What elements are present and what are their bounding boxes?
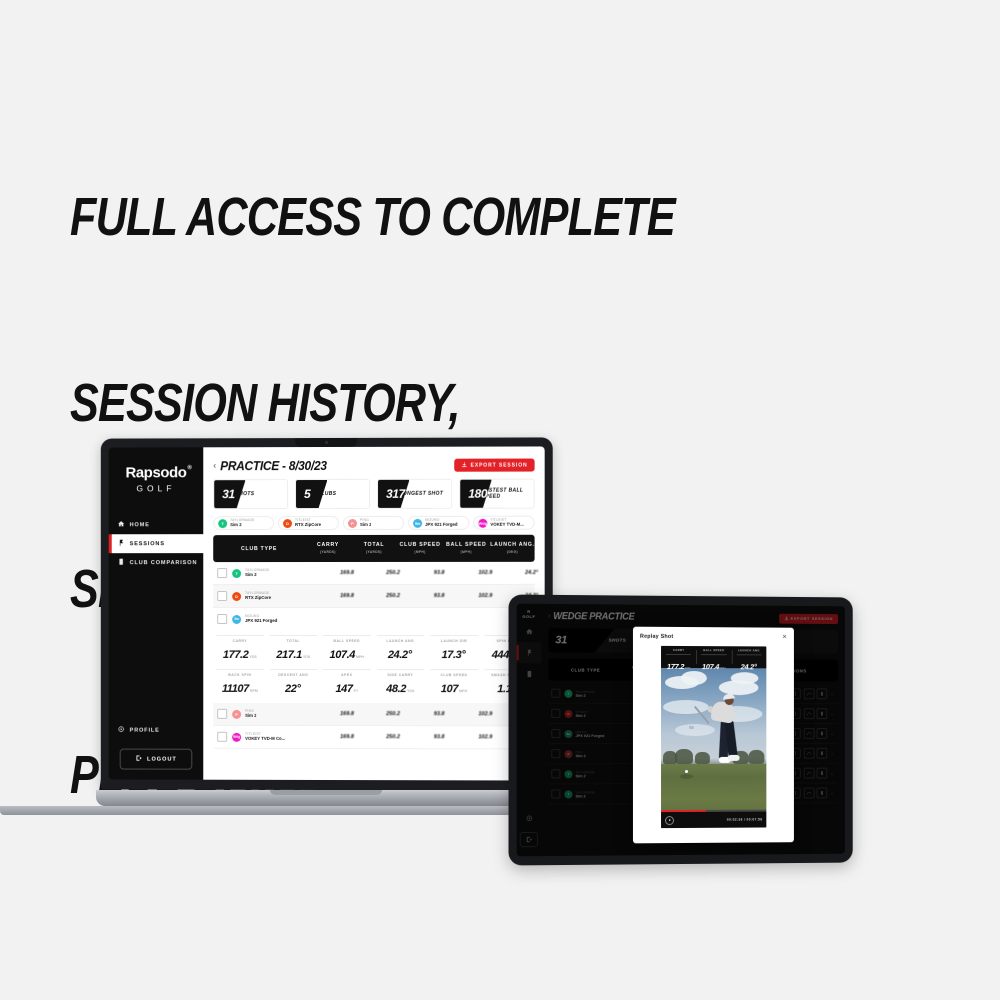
gear-icon	[118, 726, 125, 735]
cell-carry: 169.8	[324, 711, 370, 717]
tablet-screen: R GOLF ‹ WEDGE PRACTICE	[517, 604, 845, 857]
video-icon[interactable]	[817, 728, 828, 739]
tablet-row-checkbox[interactable]	[551, 689, 560, 698]
modal-header: Replay Shot ✕	[640, 634, 787, 641]
club-model: Sim 2	[230, 523, 254, 528]
close-icon[interactable]: ✕	[782, 635, 787, 641]
headline-line-1: FULL ACCESS TO COMPLETE	[70, 186, 646, 248]
video-stat-bar: CARRY177.2YDS BALL SPEED107.4MPH LAUNCH …	[661, 646, 766, 668]
expand-row-chevron-icon[interactable]: ⌄	[830, 711, 834, 717]
sidebar-item-home[interactable]: HOME	[109, 515, 203, 534]
video-icon[interactable]	[817, 787, 828, 798]
table-row[interactable]: P PINGSim 2 169.8 250.2 93.8 102.9 24.2°	[213, 703, 534, 726]
club-color-dot: T	[564, 689, 572, 697]
detail-club-speed: CLUB SPEED107MPH	[430, 669, 478, 697]
sidebar-item-label: PROFILE	[130, 727, 160, 733]
sidebar-item-sessions[interactable]: SESSIONS	[109, 534, 212, 553]
club-model: JPX 921 Forged	[425, 523, 457, 528]
session-header: ‹ PRACTICE - 8/30/23 EXPORT SESSION	[203, 446, 544, 479]
detail-launch-ang: LAUNCH ANG24.2°	[377, 635, 425, 663]
stat-value: 180	[468, 487, 487, 501]
club-icon	[118, 558, 125, 567]
club-model: RTX ZipCore	[245, 596, 271, 601]
club-model: VOKEY TVD-M...	[490, 523, 524, 528]
video-stat-ball-speed: BALL SPEED107.4MPH	[696, 646, 731, 668]
stat-card-longest-shot: 317YDS LONGEST SHOT	[377, 479, 452, 509]
tablet-row-checkbox[interactable]	[551, 749, 560, 758]
sidebar-nav: HOME SESSIONS CLUB COMPARISON	[109, 515, 203, 572]
club-color-dot: T	[564, 770, 572, 778]
logo-wordmark: Rapsodo	[125, 464, 186, 481]
trajectory-icon[interactable]	[804, 728, 815, 739]
detail-carry: CARRY177.2YDS	[216, 635, 263, 663]
detail-total: TOTAL217.1YDS	[270, 635, 317, 663]
column-header-total: TOTAL(YARDS)	[351, 542, 397, 555]
replay-shot-modal: Replay Shot ✕ CARRY177.2YDS BALL SPEED10…	[633, 627, 794, 844]
trajectory-icon[interactable]	[804, 788, 815, 799]
club-model: VOKEY TVD-M Co...	[245, 737, 285, 742]
video-timestamp: 00:02:36 / 00:07:56	[727, 818, 762, 822]
table-row[interactable]: 5w MIZUNOJPX 921 Forged	[213, 608, 534, 630]
club-cell: 5w MIZUNOJPX 921 Forged	[232, 614, 324, 623]
table-row[interactable]: D TAYLORMADERTX ZipCore 169.8 250.2 93.8…	[213, 585, 534, 608]
tablet-session-header: ‹ WEDGE PRACTICE EXPORT SESSION	[548, 611, 838, 624]
club-color-dot: T	[564, 790, 572, 798]
home-icon	[118, 520, 125, 529]
tablet-club-cell: DTITLEISTSim 2	[564, 709, 639, 717]
stat-value: 317	[386, 487, 405, 501]
export-session-label: EXPORT SESSION	[470, 462, 527, 468]
video-icon[interactable]	[817, 708, 828, 719]
column-header-club-type: CLUB TYPE	[213, 546, 305, 552]
video-icon[interactable]	[817, 768, 828, 779]
export-session-button[interactable]: EXPORT SESSION	[454, 459, 534, 472]
sidebar-item-label: SESSIONS	[130, 541, 165, 547]
shot-detail-panel: CARRY177.2YDS TOTAL217.1YDS BALL SPEED10…	[213, 630, 534, 703]
modal-title: Replay Shot	[640, 634, 782, 641]
cell-club-speed: 93.8	[416, 570, 462, 576]
trajectory-icon[interactable]	[804, 768, 815, 779]
tablet-club-cell: TTAYLORMADESim 2	[564, 770, 639, 778]
shot-detail-row-2: BACK SPIN11107RPM DESCENT ANG22° APEX147…	[213, 669, 534, 697]
club-color-dot: P	[348, 518, 357, 527]
tablet-club-cell: 5wMIZUNOJPX 921 Forged	[564, 729, 639, 737]
row-checkbox[interactable]	[217, 709, 227, 719]
club-color-dot: T	[218, 519, 227, 528]
tablet-sidebar-item-home[interactable]	[517, 621, 541, 642]
trajectory-icon[interactable]	[804, 708, 815, 719]
column-header-ball-speed: BALL SPEED(MPH)	[443, 542, 489, 555]
club-color-dot: P	[564, 750, 572, 758]
cell-carry: 169.8	[324, 593, 370, 599]
play-icon[interactable]	[665, 816, 674, 825]
cell-carry: 169.8	[324, 734, 370, 740]
promo-stage: FULL ACCESS TO COMPLETE SESSION HISTORY,…	[0, 0, 1000, 1000]
tablet-sidebar: R GOLF	[517, 604, 541, 857]
cell-ball-speed: 102.9	[462, 570, 508, 576]
tablet-sidebar-item-profile[interactable]	[517, 808, 541, 829]
download-icon	[784, 615, 789, 621]
video-controls: 00:02:36 / 00:07:56	[661, 812, 766, 829]
cell-total: 250.2	[370, 711, 416, 717]
cell-ball-speed: 102.9	[462, 711, 508, 717]
club-cell: P PINGSim 2	[232, 709, 324, 718]
club-color-dot: 5w	[564, 729, 572, 737]
detail-ball-speed: BALL SPEED107.4MPH	[323, 635, 371, 663]
club-color-dot: T	[232, 569, 241, 578]
detail-descent-ang: DESCENT ANG22°	[270, 669, 317, 697]
logout-button[interactable]: LOGOUT	[120, 749, 193, 770]
cell-ball-speed: 102.9	[462, 734, 508, 740]
column-header-launch-ang: LAUNCH ANG.(DEG)	[489, 542, 535, 555]
table-header: CLUB TYPE CARRY(YARDS) TOTAL(YARDS) CLUB…	[213, 535, 534, 562]
stat-label: LONGEST SHOT	[399, 491, 443, 497]
stat-value: 31	[222, 487, 235, 501]
session-title: PRACTICE - 8/30/23	[220, 458, 327, 473]
tablet-body: R GOLF ‹ WEDGE PRACTICE	[509, 595, 853, 866]
headline-line-2: SESSION HISTORY,	[70, 372, 646, 434]
logo-trademark-icon: ®	[187, 465, 191, 471]
club-filter-chips: T TAYLORMADESim 2 D TITLEISTRTX ZipCore …	[203, 509, 544, 535]
cell-club-speed: 93.8	[416, 711, 462, 717]
sidebar-item-club-comparison[interactable]: CLUB COMPARISON	[109, 553, 203, 572]
logo-subtitle: GOLF	[109, 483, 203, 493]
laptop-lid: Rapsodo® GOLF HOME SESSIONS	[101, 437, 553, 790]
cell-ball-speed: 102.9	[462, 593, 508, 599]
club-chip[interactable]: T TAYLORMADESim 2	[213, 516, 274, 530]
video-divot	[680, 774, 693, 779]
club-chip[interactable]: Wdg TITLEISTVOKEY TVD-M...	[473, 516, 534, 530]
detail-side-carry: SIDE CARRY48.2YDS	[377, 669, 425, 697]
club-color-dot: Wdg	[232, 732, 241, 741]
club-chip[interactable]: P PINGSim 2	[343, 516, 404, 530]
stat-card-clubs: 5 CLUBS	[295, 479, 370, 509]
tablet-logout-button[interactable]	[520, 832, 538, 847]
detail-launch-dir: LAUNCH DIR17.3°	[430, 635, 478, 663]
table-row[interactable]: T TAYLORMADESim 2 169.8 250.2 93.8 102.9…	[213, 562, 534, 585]
shot-detail-row-1: CARRY177.2YDS TOTAL217.1YDS BALL SPEED10…	[213, 635, 534, 663]
video-stat-carry: CARRY177.2YDS	[661, 646, 696, 668]
stat-value: 5	[304, 487, 310, 501]
logout-icon	[135, 755, 142, 764]
expand-row-chevron-icon[interactable]: ⌄	[830, 750, 834, 756]
tablet-export-session-button[interactable]: EXPORT SESSION	[779, 613, 838, 623]
tablet-export-label: EXPORT SESSION	[791, 616, 834, 620]
detail-back-spin: BACK SPIN11107RPM	[216, 669, 263, 697]
tablet-club-cell: PPINGSim 2	[564, 750, 639, 758]
trajectory-icon[interactable]	[804, 748, 815, 759]
club-color-dot: 5w	[232, 614, 241, 623]
sidebar-footer: PROFILE LOGOUT	[109, 721, 203, 770]
club-color-dot: 5w	[413, 518, 422, 527]
expand-row-chevron-icon[interactable]: ⌄	[830, 790, 834, 796]
cell-carry: 169.8	[324, 570, 370, 576]
session-stat-cards: 31 SHOTS 5 CLUBS 317YDS LONGEST SHOT 1	[203, 479, 544, 510]
club-chip[interactable]: D TITLEISTRTX ZipCore	[278, 516, 339, 530]
sidebar-item-profile[interactable]: PROFILE	[109, 721, 203, 740]
row-checkbox[interactable]	[217, 568, 227, 578]
column-header-club-speed: CLUB SPEED(MPH)	[397, 542, 443, 555]
row-checkbox[interactable]	[217, 732, 227, 742]
stat-label: FASTEST BALL SPEED	[482, 488, 534, 500]
sidebar: Rapsodo® GOLF HOME SESSIONS	[109, 447, 203, 779]
club-color-dot: D	[232, 592, 241, 601]
tablet-row-checkbox[interactable]	[551, 789, 560, 798]
cell-total: 250.2	[370, 593, 416, 599]
sidebar-item-label: CLUB COMPARISON	[130, 560, 198, 566]
breadcrumb: ‹ PRACTICE - 8/30/23	[213, 458, 454, 474]
row-checkbox[interactable]	[217, 614, 227, 624]
flag-icon	[118, 539, 125, 548]
table-row[interactable]: Wdg TITLEISTVOKEY TVD-M Co... 169.8 250.…	[213, 726, 534, 750]
tablet-row-checkbox[interactable]	[551, 709, 560, 718]
club-color-dot: P	[232, 709, 241, 718]
cell-club-speed: 93.8	[416, 734, 462, 740]
column-header-carry: CARRY(YARDS)	[305, 542, 351, 555]
webcam-notch	[295, 438, 357, 447]
trajectory-icon[interactable]	[804, 688, 815, 699]
club-cell: T TAYLORMADESim 2	[232, 568, 324, 577]
cell-total: 250.2	[370, 734, 416, 740]
laptop-device: Rapsodo® GOLF HOME SESSIONS	[96, 438, 556, 806]
tablet-column-header-club-type: CLUB TYPE	[548, 667, 623, 672]
laptop-screen: Rapsodo® GOLF HOME SESSIONS	[109, 446, 545, 780]
video-icon[interactable]	[817, 688, 828, 699]
main-content: ‹ PRACTICE - 8/30/23 EXPORT SESSION 31 S…	[203, 446, 544, 780]
download-icon	[461, 461, 467, 469]
club-model: Sim 2	[245, 714, 256, 719]
back-chevron-icon[interactable]: ‹	[213, 461, 216, 470]
stat-card-fastest-ball-speed: 180MPH FASTEST BALL SPEED	[459, 479, 534, 509]
tablet-club-cell: TTAYLORMADESim 2	[564, 689, 639, 697]
tablet-club-cell: TTAYLORMADESim 2	[564, 790, 639, 798]
video-stat-launch-ang: LAUNCH ANG24.2°	[731, 646, 766, 668]
cell-total: 250.2	[370, 570, 416, 576]
tablet-brand-logo: R GOLF	[517, 604, 541, 621]
tablet-back-chevron-icon[interactable]: ‹	[548, 613, 550, 620]
logout-label: LOGOUT	[147, 756, 177, 762]
club-color-dot: Wdg	[478, 518, 487, 527]
shot-video-player[interactable]: CARRY177.2YDS BALL SPEED107.4MPH LAUNCH …	[661, 646, 766, 828]
club-cell: Wdg TITLEISTVOKEY TVD-M Co...	[232, 732, 324, 741]
tablet-sidebar-item-club-comparison[interactable]	[517, 663, 541, 684]
expand-row-chevron-icon[interactable]: ⌄	[830, 730, 834, 736]
column-header-replay-options: REPLAY OPTIONS	[536, 542, 545, 554]
row-checkbox[interactable]	[217, 591, 227, 601]
golfer-figure	[703, 690, 747, 774]
brand-logo: Rapsodo® GOLF	[109, 447, 203, 497]
club-color-dot: D	[564, 709, 572, 717]
club-cell: D TAYLORMADERTX ZipCore	[232, 591, 324, 600]
tablet-device: R GOLF ‹ WEDGE PRACTICE	[510, 596, 855, 864]
tablet-row-checkbox[interactable]	[551, 729, 560, 738]
tablet-sidebar-footer	[517, 808, 541, 851]
detail-apex: APEX147FT	[323, 669, 371, 697]
stat-card-shots: 31 SHOTS	[213, 479, 288, 509]
tablet-row-checkbox[interactable]	[551, 769, 560, 778]
tablet-sidebar-item-sessions[interactable]	[517, 642, 541, 663]
tablet-session-title: WEDGE PRACTICE	[554, 611, 761, 624]
expand-row-chevron-icon[interactable]: ⌄	[830, 770, 834, 776]
club-model: RTX ZipCore	[295, 523, 321, 528]
club-model: Sim 2	[360, 523, 371, 528]
laptop-base	[96, 790, 556, 806]
club-color-dot: D	[283, 519, 292, 528]
club-chip[interactable]: 5w MIZUNOJPX 921 Forged	[408, 516, 469, 530]
expand-row-chevron-icon[interactable]: ⌄	[830, 691, 834, 697]
club-model: JPX 921 Forged	[245, 619, 277, 624]
sidebar-item-label: HOME	[130, 522, 150, 528]
video-icon[interactable]	[817, 748, 828, 759]
cell-club-speed: 93.8	[416, 593, 462, 599]
club-model: Sim 2	[245, 573, 269, 578]
cell-launch-ang: 24.2°	[508, 570, 544, 576]
golf-ball	[685, 770, 688, 773]
